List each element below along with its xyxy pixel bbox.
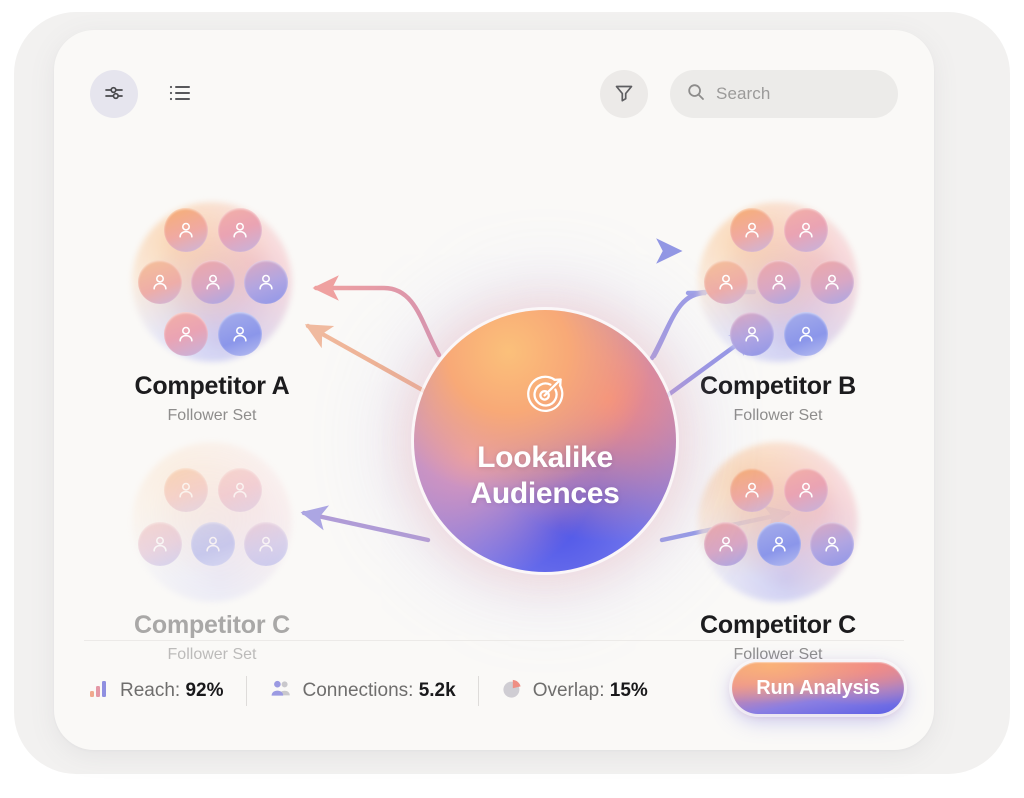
avatar[interactable] bbox=[191, 522, 235, 566]
stat-overlap[interactable]: Overlap: 15% bbox=[479, 674, 670, 708]
people-icon bbox=[269, 678, 293, 705]
bar-chart-icon bbox=[88, 678, 110, 705]
stat-connections[interactable]: Connections: 5.2k bbox=[247, 674, 478, 708]
avatar[interactable] bbox=[730, 312, 774, 356]
node-title: Competitor C bbox=[648, 612, 908, 640]
run-analysis-button[interactable]: Run Analysis bbox=[732, 662, 904, 714]
avatar[interactable] bbox=[784, 468, 828, 512]
cluster-competitor-c-right[interactable] bbox=[698, 442, 858, 602]
avatar[interactable] bbox=[784, 312, 828, 356]
avatar-group bbox=[132, 442, 292, 602]
avatar[interactable] bbox=[244, 522, 288, 566]
app-window: Search bbox=[54, 30, 934, 750]
avatar[interactable] bbox=[810, 260, 854, 304]
avatar[interactable] bbox=[218, 312, 262, 356]
avatar[interactable] bbox=[244, 260, 288, 304]
avatar[interactable] bbox=[164, 208, 208, 252]
node-title: Competitor C bbox=[82, 612, 342, 640]
core-node-lookalike-audiences[interactable]: Lookalike Audiences bbox=[414, 310, 676, 572]
avatar-group bbox=[698, 442, 858, 602]
diagram-canvas: Competitor A Follower Set bbox=[54, 140, 934, 640]
avatar[interactable] bbox=[784, 208, 828, 252]
stat-label: Reach: bbox=[120, 680, 180, 701]
stat-text: Overlap: 15% bbox=[533, 680, 648, 702]
node-subtitle: Follower Set bbox=[82, 407, 342, 425]
avatar[interactable] bbox=[164, 312, 208, 356]
avatar[interactable] bbox=[810, 522, 854, 566]
stats-group: Reach: 92% Connections: 5.2k bbox=[84, 668, 670, 714]
stat-label: Overlap: bbox=[533, 680, 605, 701]
list-icon bbox=[167, 80, 193, 109]
avatar[interactable] bbox=[704, 260, 748, 304]
stat-value: 5.2k bbox=[419, 680, 456, 701]
stat-value: 15% bbox=[610, 680, 648, 701]
avatar[interactable] bbox=[757, 260, 801, 304]
sliders-button[interactable] bbox=[90, 70, 138, 118]
node-title: Competitor B bbox=[648, 373, 908, 401]
footer-bar: Reach: 92% Connections: 5.2k bbox=[54, 640, 934, 750]
node-title: Competitor A bbox=[82, 373, 342, 401]
avatar[interactable] bbox=[730, 208, 774, 252]
core-label-line1: Lookalike bbox=[470, 440, 619, 475]
core-label-line2: Audiences bbox=[470, 476, 619, 511]
screenshot-root: Search bbox=[0, 0, 1024, 798]
list-view-button[interactable] bbox=[156, 70, 204, 118]
avatar-group bbox=[698, 202, 858, 362]
sliders-icon bbox=[102, 81, 126, 108]
search-input[interactable]: Search bbox=[670, 70, 898, 118]
cluster-competitor-a[interactable] bbox=[132, 202, 292, 362]
link-core-to-c-left bbox=[304, 513, 428, 540]
avatar[interactable] bbox=[757, 522, 801, 566]
stat-value: 92% bbox=[185, 680, 223, 701]
search-icon bbox=[686, 82, 706, 107]
avatar[interactable] bbox=[730, 468, 774, 512]
footer-divider bbox=[84, 640, 904, 641]
link-core-to-a-upper bbox=[316, 288, 439, 355]
core-label: Lookalike Audiences bbox=[470, 440, 619, 511]
search-placeholder: Search bbox=[716, 84, 770, 104]
cluster-competitor-c-left[interactable] bbox=[132, 442, 292, 602]
avatar[interactable] bbox=[218, 468, 262, 512]
avatar[interactable] bbox=[138, 522, 182, 566]
avatar[interactable] bbox=[218, 208, 262, 252]
toolbar: Search bbox=[54, 30, 934, 148]
avatar[interactable] bbox=[191, 260, 235, 304]
avatar[interactable] bbox=[704, 522, 748, 566]
avatar[interactable] bbox=[164, 468, 208, 512]
stat-reach[interactable]: Reach: 92% bbox=[84, 674, 246, 708]
stat-label: Connections: bbox=[303, 680, 414, 701]
node-subtitle: Follower Set bbox=[648, 407, 908, 425]
target-icon bbox=[521, 371, 569, 424]
filter-button[interactable] bbox=[600, 70, 648, 118]
filter-icon bbox=[612, 81, 636, 108]
avatar[interactable] bbox=[138, 260, 182, 304]
stat-text: Connections: 5.2k bbox=[303, 680, 456, 702]
cluster-competitor-b[interactable] bbox=[698, 202, 858, 362]
avatar-group bbox=[132, 202, 292, 362]
label-competitor-b: Competitor B Follower Set bbox=[648, 373, 908, 424]
stat-text: Reach: 92% bbox=[120, 680, 224, 702]
label-competitor-a: Competitor A Follower Set bbox=[82, 373, 342, 424]
pie-chart-icon bbox=[501, 678, 523, 705]
